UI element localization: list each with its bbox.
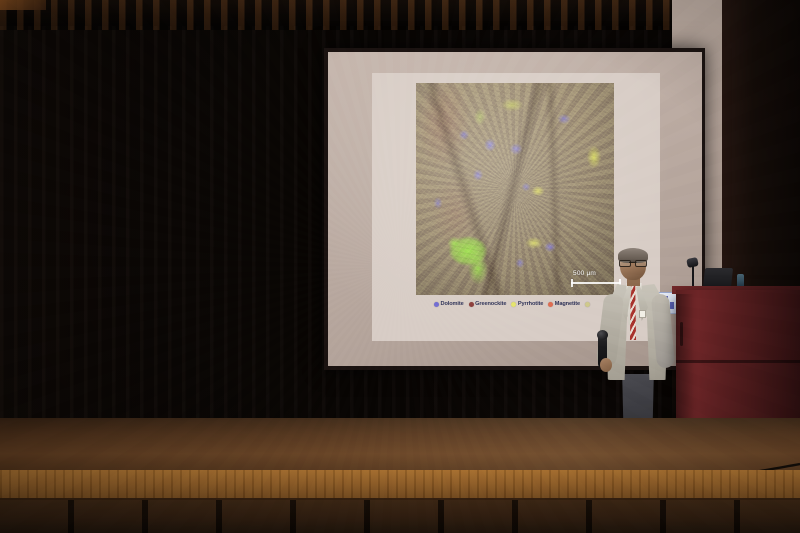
laptop-computer[interactable] bbox=[703, 268, 733, 288]
right-dark-wall bbox=[722, 0, 800, 330]
ceiling-corner-light bbox=[0, 0, 46, 10]
legend-item: Magnetite bbox=[548, 302, 580, 308]
eyeglasses-icon bbox=[619, 260, 647, 265]
presenter-hand bbox=[600, 358, 612, 372]
podium-groove bbox=[676, 360, 800, 363]
mineral-liberation-micrograph bbox=[416, 83, 614, 295]
mineral-legend: Dolomite Greenockite Pyrrhotite Magnetit… bbox=[434, 302, 592, 308]
photograph-scene: 500 µm Dolomite Greenockite Pyrrhotite M… bbox=[0, 0, 800, 533]
microphone-head-icon bbox=[597, 330, 608, 340]
legend-item: Greenockite bbox=[469, 302, 507, 308]
legend-label-pyrrhotite: Pyrrhotite bbox=[518, 302, 543, 308]
micrograph-vignette bbox=[416, 83, 614, 295]
legend-label-magnetite: Magnetite bbox=[555, 302, 580, 308]
micrograph-texture bbox=[416, 83, 614, 295]
stage-front-panels bbox=[0, 500, 800, 533]
legend-color-dot-dolomite bbox=[434, 302, 439, 307]
presenter-name-badge bbox=[639, 310, 646, 318]
legend-item bbox=[585, 302, 592, 307]
legend-label-greenockite: Greenockite bbox=[475, 302, 506, 308]
legend-label-dolomite: Dolomite bbox=[441, 302, 464, 308]
legend-color-dot-extra bbox=[585, 302, 590, 307]
legend-item: Pyrrhotite bbox=[511, 302, 543, 308]
podium-handle bbox=[680, 322, 683, 346]
legend-item: Dolomite bbox=[434, 302, 464, 308]
legend-color-dot-pyrrhotite bbox=[511, 302, 516, 307]
stage-edge-wood-grain bbox=[0, 470, 800, 500]
legend-color-dot-greenockite bbox=[469, 302, 474, 307]
ceiling-slats bbox=[0, 0, 720, 30]
legend-color-dot-magnetite bbox=[548, 302, 553, 307]
